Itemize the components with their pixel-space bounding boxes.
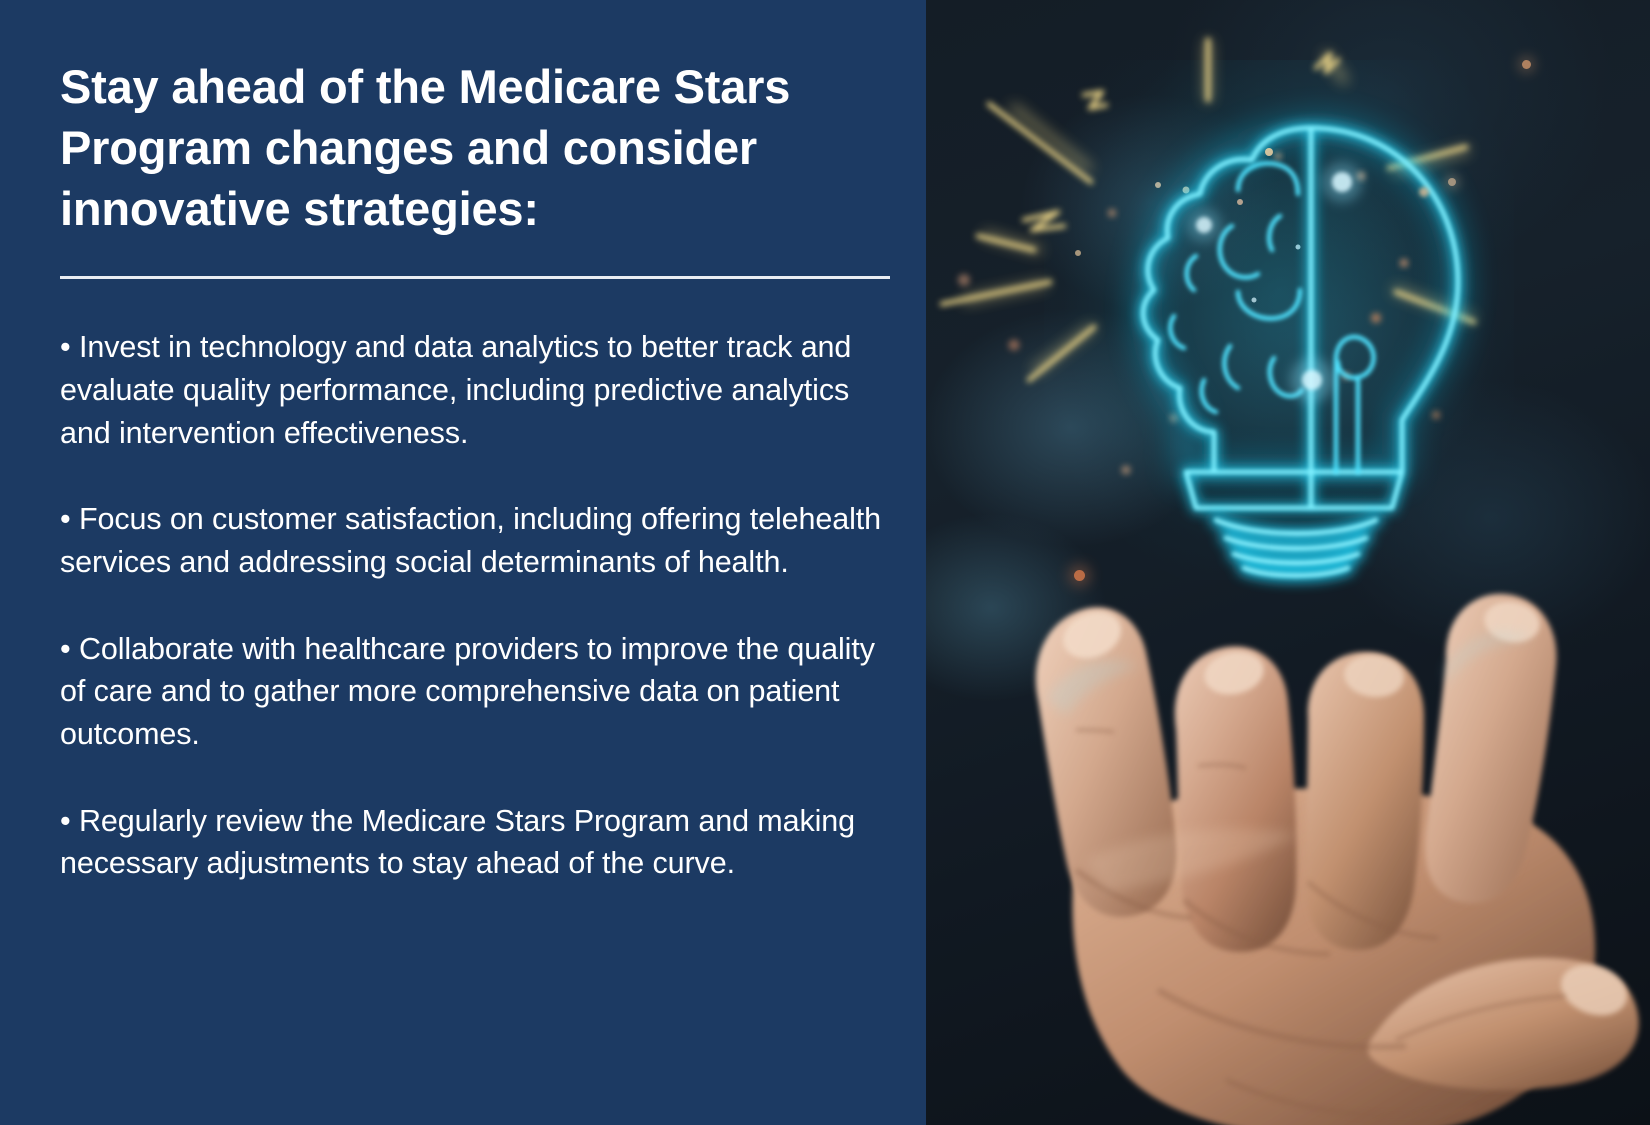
list-item: • Focus on customer satisfaction, includ… — [60, 498, 890, 583]
bullet-list: • Invest in technology and data analytic… — [60, 326, 890, 885]
content-panel: Stay ahead of the Medicare Stars Program… — [0, 0, 926, 1125]
title-divider — [60, 276, 890, 279]
list-item: • Regularly review the Medicare Stars Pr… — [60, 800, 890, 885]
illustration-panel — [926, 0, 1650, 1125]
list-item: • Invest in technology and data analytic… — [60, 326, 890, 454]
slide-root: Stay ahead of the Medicare Stars Program… — [0, 0, 1650, 1125]
list-item: • Collaborate with healthcare providers … — [60, 628, 890, 756]
page-title: Stay ahead of the Medicare Stars Program… — [60, 56, 890, 239]
photo-background — [926, 0, 1650, 1125]
